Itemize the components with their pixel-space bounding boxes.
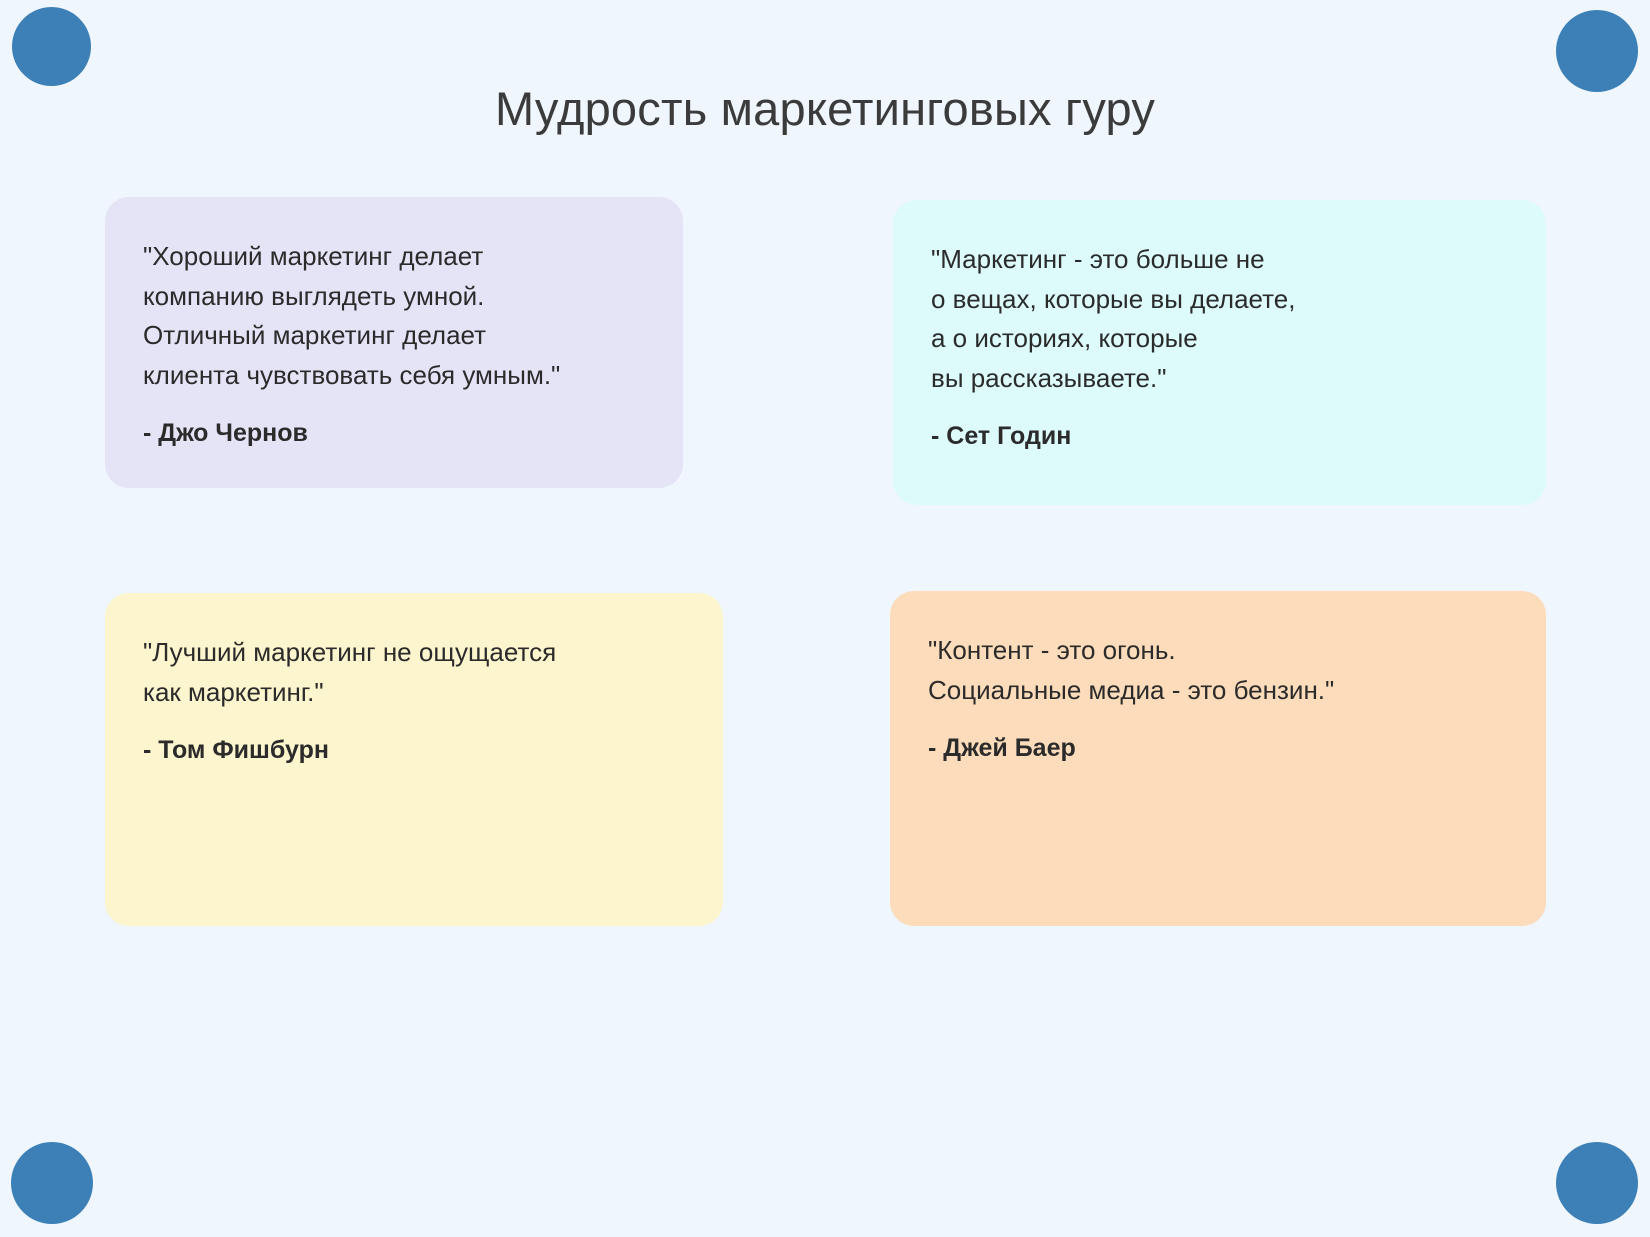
decorative-circle-bottom-left [11,1142,93,1224]
decorative-circle-top-right [1556,10,1638,92]
page-title: Мудрость маркетинговых гуру [0,81,1650,137]
quote-author: - Джо Чернов [143,419,645,448]
quote-author: - Том Фишбурн [143,736,685,765]
quote-card: "Хороший маркетинг делает компанию выгля… [105,197,683,488]
quote-text: "Лучший маркетинг не ощущается как марке… [143,633,685,712]
quote-author: - Сет Годин [931,422,1508,451]
quote-text: "Хороший маркетинг делает компанию выгля… [143,237,645,395]
quote-text: "Контент - это огонь. Социальные медиа -… [928,631,1508,710]
quote-author: - Джей Баер [928,734,1508,763]
slide-canvas: Мудрость маркетинговых гуру "Хороший мар… [0,0,1650,1237]
quote-card: "Контент - это огонь. Социальные медиа -… [890,591,1546,926]
quote-card: "Маркетинг - это больше не о вещах, кото… [893,200,1546,505]
decorative-circle-top-left [12,7,91,86]
quote-text: "Маркетинг - это больше не о вещах, кото… [931,240,1508,398]
quote-card: "Лучший маркетинг не ощущается как марке… [105,593,723,926]
decorative-circle-bottom-right [1556,1142,1638,1224]
